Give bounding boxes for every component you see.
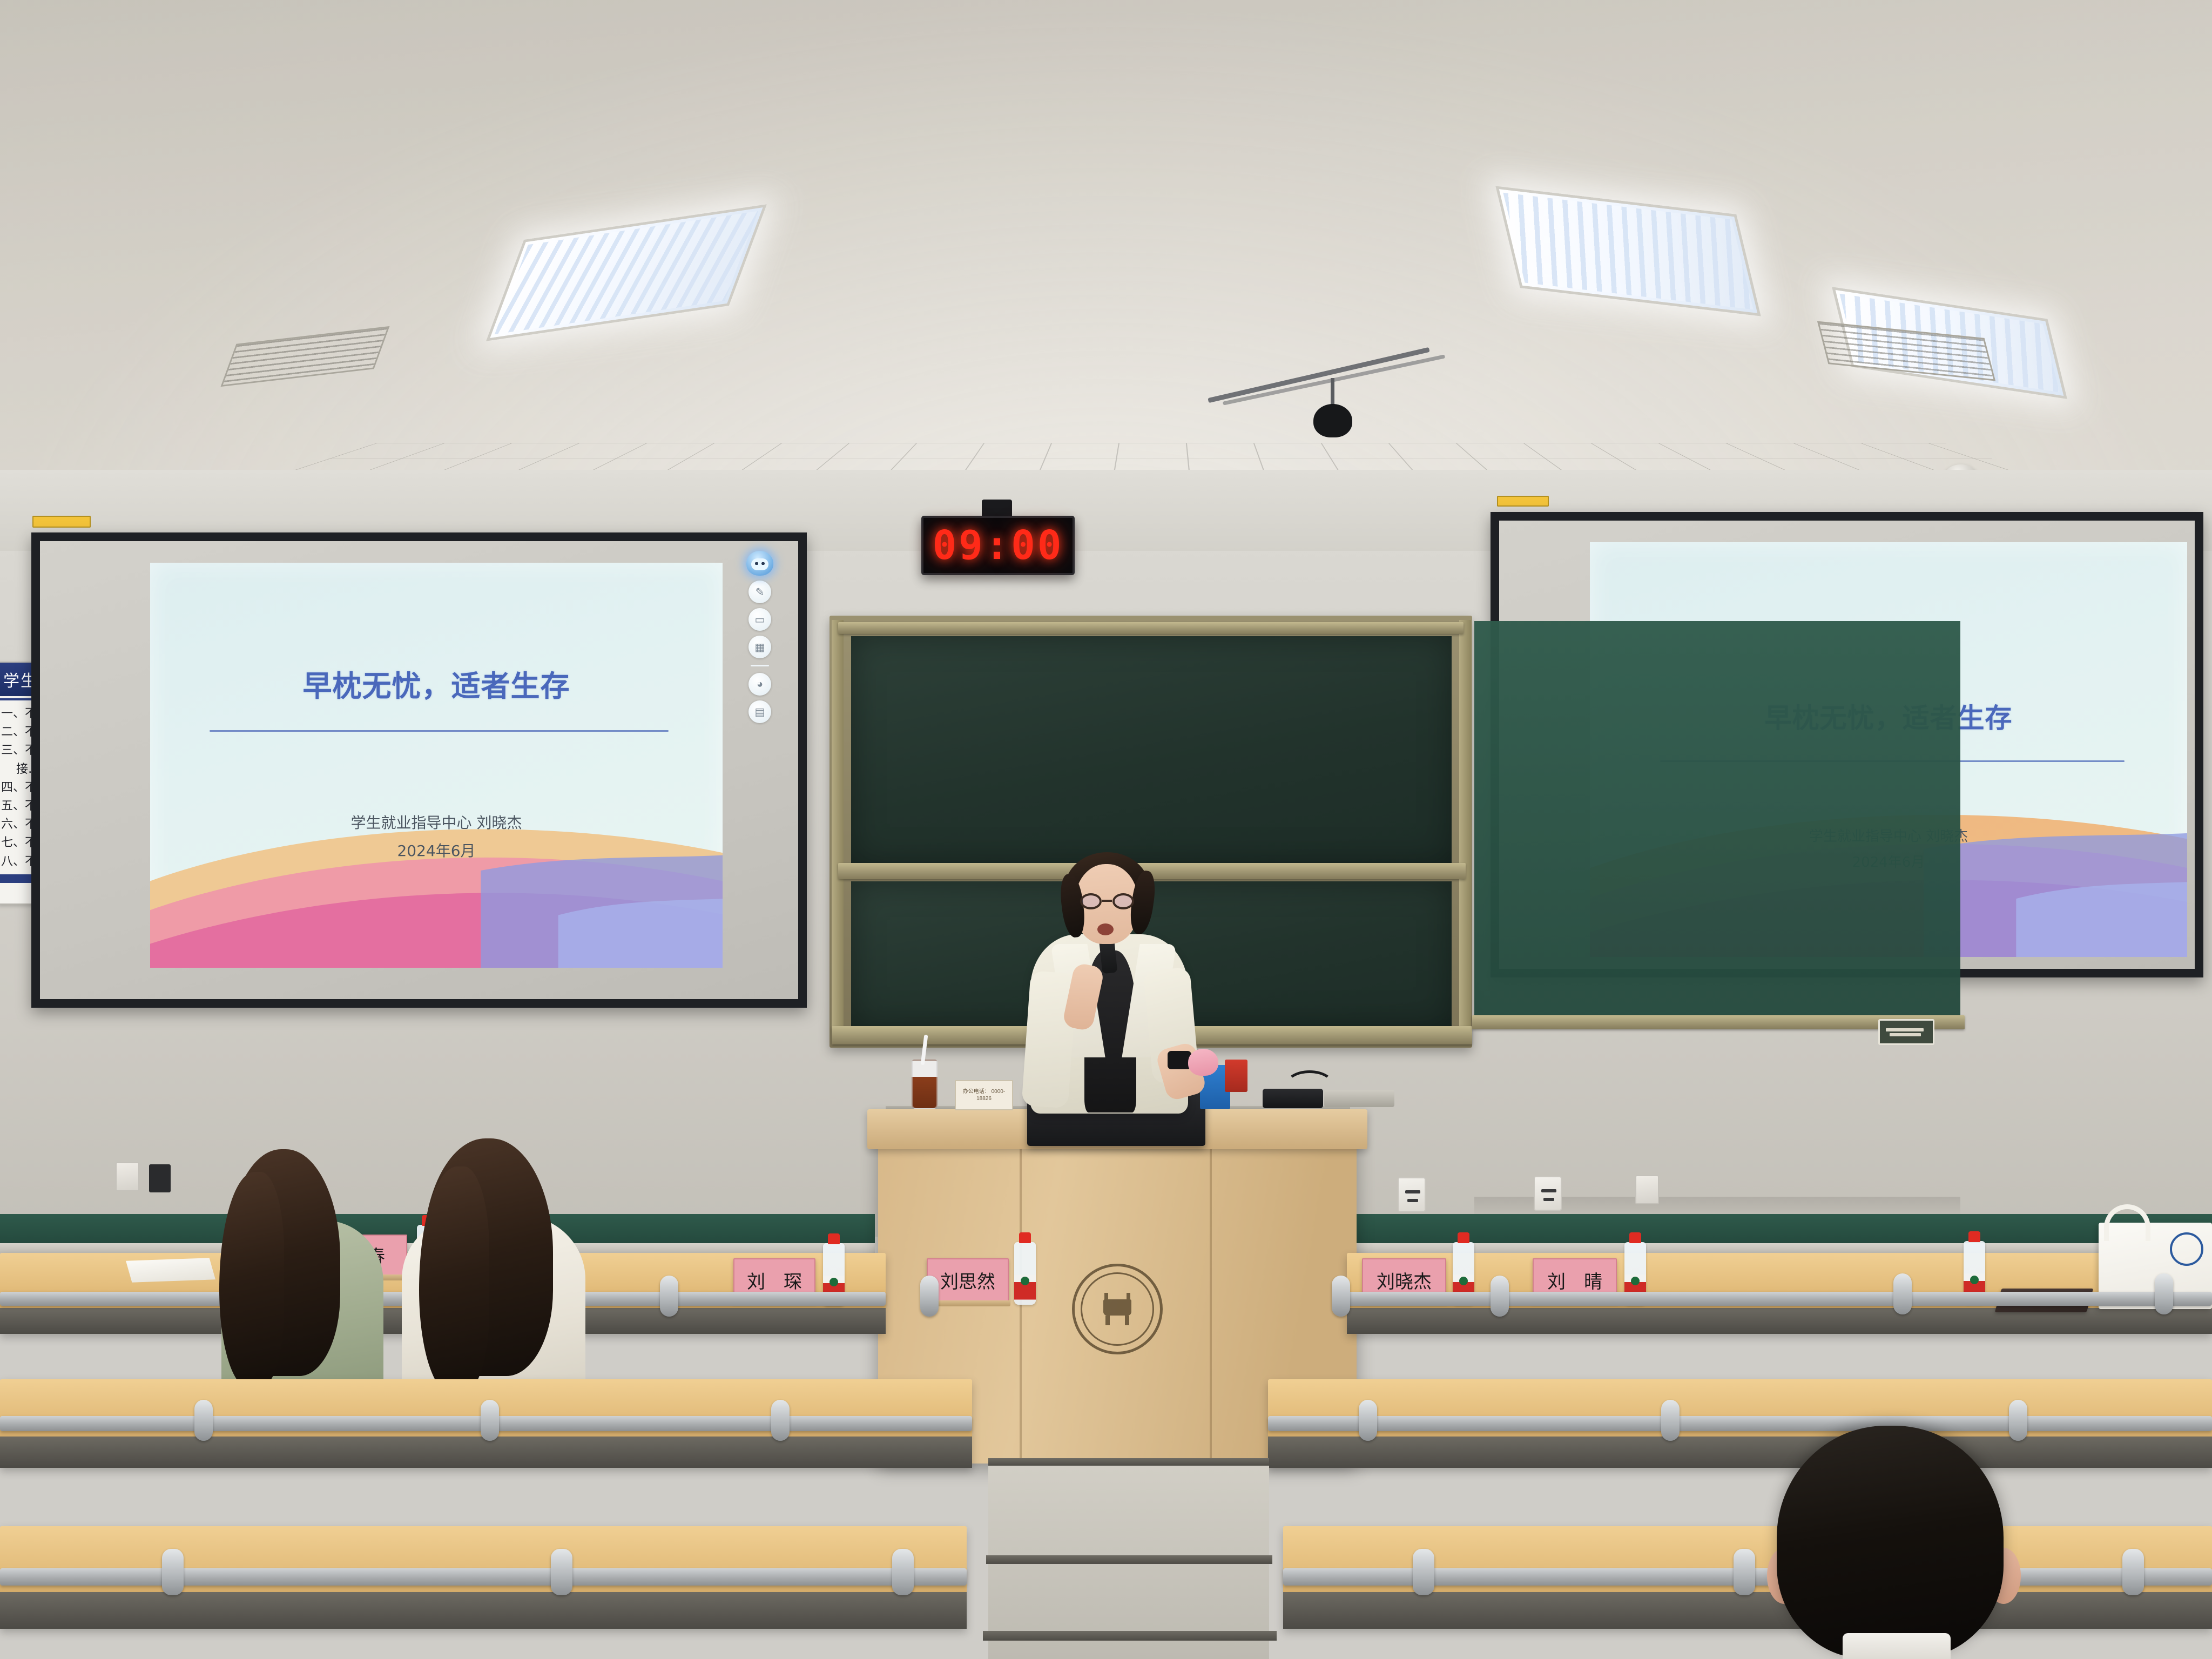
slide-divider <box>210 730 669 732</box>
bench-backrest-bar <box>1268 1416 2212 1431</box>
wall-switch-plate[interactable] <box>1635 1175 1659 1204</box>
seat-hinge-knob <box>771 1400 790 1441</box>
aisle-step-edge <box>986 1555 1272 1564</box>
glasses-icon <box>1080 893 1134 909</box>
ceiling <box>0 0 2212 486</box>
seat-hinge-knob <box>162 1549 184 1595</box>
equipment-label <box>1497 496 1549 507</box>
left-slide: 早枕无忧，适者生存 学生就业指导中心 刘晓杰 2024年6月 <box>150 563 723 968</box>
ceiling-light-falloff <box>0 0 2212 486</box>
spot-light-icon <box>1313 404 1352 437</box>
blackboard-track <box>832 620 844 1044</box>
warning-label <box>1878 1019 1934 1045</box>
document-icon[interactable]: ▤ <box>748 700 771 723</box>
attendee-head <box>1777 1426 2004 1659</box>
wall-digital-clock: 09:00 <box>921 516 1075 575</box>
seat-hinge-knob <box>1893 1273 1912 1314</box>
wall-power-socket[interactable] <box>1398 1177 1426 1212</box>
seat-hinge-knob <box>1413 1549 1434 1595</box>
blackboard-panel-upper <box>851 636 1452 863</box>
wall-switch-plate[interactable] <box>116 1162 139 1191</box>
seat-hinge-knob <box>1491 1276 1509 1317</box>
seat-hinge-knob <box>920 1276 939 1317</box>
seat-hinge-knob <box>1332 1276 1350 1317</box>
seat-hinge-knob <box>1661 1400 1680 1441</box>
seat-hinge-knob <box>2122 1549 2144 1595</box>
seat-hinge-knob <box>551 1549 572 1595</box>
desk-phone-note: 办公电话： 0000-18826 <box>955 1080 1013 1110</box>
tote-logo-icon <box>2170 1232 2203 1266</box>
lecture-hall-photo: 学生 一、不… 二、不… 三、不… 接… 四、不… 五、不… 六、不… 七、不…… <box>0 0 2212 1659</box>
emblem-handles <box>1102 1293 1132 1301</box>
small-red-box <box>1225 1060 1247 1092</box>
blackboard-top-rail <box>838 622 1464 634</box>
seat-hinge-knob <box>481 1400 499 1441</box>
name-card: 刘思然 <box>927 1258 1009 1301</box>
lower-wall-green-strip <box>1357 1214 2212 1244</box>
water-bottle <box>1014 1242 1036 1305</box>
clock-mount-bracket <box>982 500 1012 518</box>
toolbar-divider <box>751 665 769 666</box>
presenter-mouth <box>1097 923 1114 935</box>
seat-hinge-knob <box>892 1549 914 1595</box>
blackboard-track <box>1459 620 1471 1044</box>
clock-time: 09:00 <box>933 522 1064 569</box>
wall-power-socket[interactable] <box>1534 1176 1562 1211</box>
seat-hinge-knob <box>2155 1273 2173 1314</box>
seat-hinge-knob <box>194 1400 213 1441</box>
bench-backrest-bar <box>1347 1292 2212 1306</box>
blackboard-right-section <box>1474 621 1960 1023</box>
palette-icon[interactable]: ◕ <box>748 673 771 696</box>
metal-tray <box>1324 1090 1394 1107</box>
ai-assistant-icon[interactable] <box>746 551 773 576</box>
slide-presenter-line: 学生就业指导中心 刘晓杰 <box>150 811 723 833</box>
slide-wave-graphic <box>150 773 723 968</box>
wall-data-port[interactable] <box>149 1164 171 1192</box>
slide-date-line: 2024年6月 <box>150 839 723 861</box>
seat-hinge-knob <box>1734 1549 1755 1595</box>
aisle-step-edge <box>988 1458 1269 1466</box>
seat-hinge-knob <box>660 1276 678 1317</box>
smartboard-toolbar[interactable]: ✎ ▭ ▦ ◕ ▤ <box>746 551 773 723</box>
emblem-ding-vessel <box>1100 1293 1135 1325</box>
apps-grid-icon[interactable]: ▦ <box>748 636 771 658</box>
iced-drink-cup <box>912 1060 938 1109</box>
bench-backrest-bar <box>0 1568 967 1586</box>
podium-panel-seam <box>1210 1129 1212 1464</box>
loose-papers <box>126 1258 215 1282</box>
presenter-pink-item <box>1188 1049 1218 1076</box>
seat-hinge-knob <box>2009 1400 2027 1441</box>
screenshot-icon[interactable]: ▭ <box>748 608 771 631</box>
aisle-step-edge <box>983 1631 1277 1641</box>
university-emblem-icon <box>1072 1264 1163 1354</box>
attendee-collar <box>1843 1633 1951 1659</box>
equipment-label <box>32 516 91 528</box>
slide-title: 早枕无忧，适者生存 <box>150 662 723 705</box>
seat-hinge-knob <box>1359 1400 1377 1441</box>
pen-icon[interactable]: ✎ <box>748 581 771 603</box>
